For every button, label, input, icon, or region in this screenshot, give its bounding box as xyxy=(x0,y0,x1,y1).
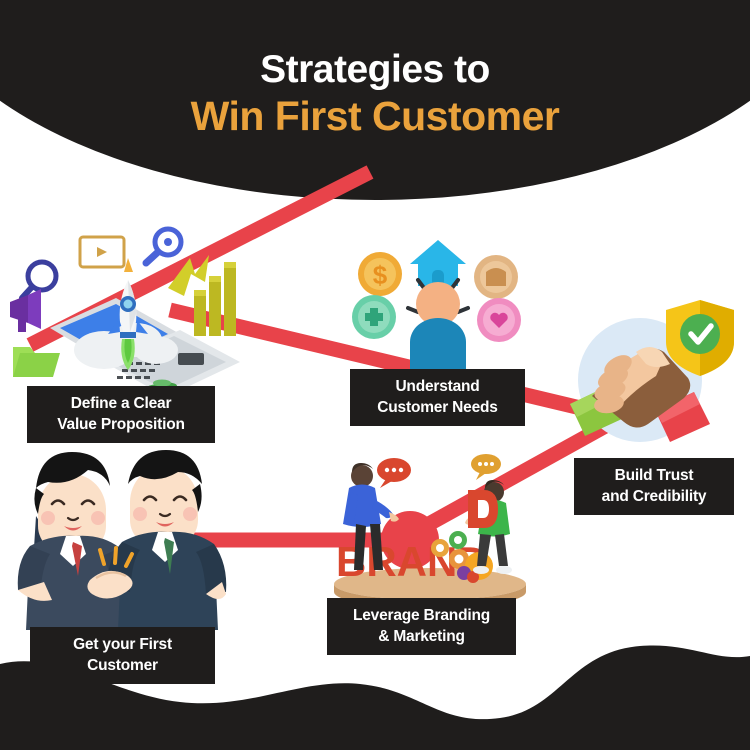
illustration-customer-needs: $ xyxy=(338,232,538,382)
label-line-1: Define a Clear xyxy=(39,394,203,415)
target-icon xyxy=(146,229,181,263)
speech-bubble-icon xyxy=(377,458,411,488)
video-player-icon xyxy=(80,237,124,267)
label-branding-marketing[interactable]: Leverage Branding & Marketing xyxy=(327,598,516,655)
medical-plus-icon xyxy=(352,295,396,339)
svg-text:$: $ xyxy=(373,260,388,290)
title-line-2: Win First Customer xyxy=(0,91,750,142)
label-line-1: Leverage Branding xyxy=(339,606,504,627)
label-line-1: Get your First xyxy=(42,635,203,656)
heart-icon xyxy=(477,298,521,342)
label-line-2: & Marketing xyxy=(339,627,504,648)
illustration-first-customer xyxy=(8,438,236,638)
dollar-coin-icon: $ xyxy=(358,252,402,296)
label-line-2: and Credibility xyxy=(586,487,722,508)
label-line-1: Understand xyxy=(362,377,513,398)
infographic-canvas: Strategies to Win First Customer xyxy=(0,0,750,750)
title-line-1: Strategies to xyxy=(0,50,750,91)
businessman-right xyxy=(108,450,226,630)
label-value-proposition[interactable]: Define a Clear Value Proposition xyxy=(27,386,215,443)
illustration-branding-marketing: BRAND xyxy=(318,452,538,604)
bread-icon xyxy=(474,255,518,299)
label-line-2: Customer xyxy=(42,656,203,677)
lightning-arrow-icon xyxy=(168,255,209,296)
letter-d-icon xyxy=(468,490,498,528)
label-line-2: Customer Needs xyxy=(362,398,513,419)
label-line-1: Build Trust xyxy=(586,466,722,487)
label-build-trust[interactable]: Build Trust and Credibility xyxy=(574,458,734,515)
businessman-left xyxy=(18,452,134,630)
folder-icon xyxy=(13,347,60,377)
label-line-2: Value Proposition xyxy=(39,415,203,436)
illustration-value-proposition xyxy=(8,222,260,400)
label-first-customer[interactable]: Get your First Customer xyxy=(30,627,215,684)
illustration-build-trust xyxy=(552,292,742,464)
speech-bubble-icon-2 xyxy=(471,454,501,480)
person-icon xyxy=(410,282,466,382)
page-title: Strategies to Win First Customer xyxy=(0,50,750,142)
label-customer-needs[interactable]: Understand Customer Needs xyxy=(350,369,525,426)
